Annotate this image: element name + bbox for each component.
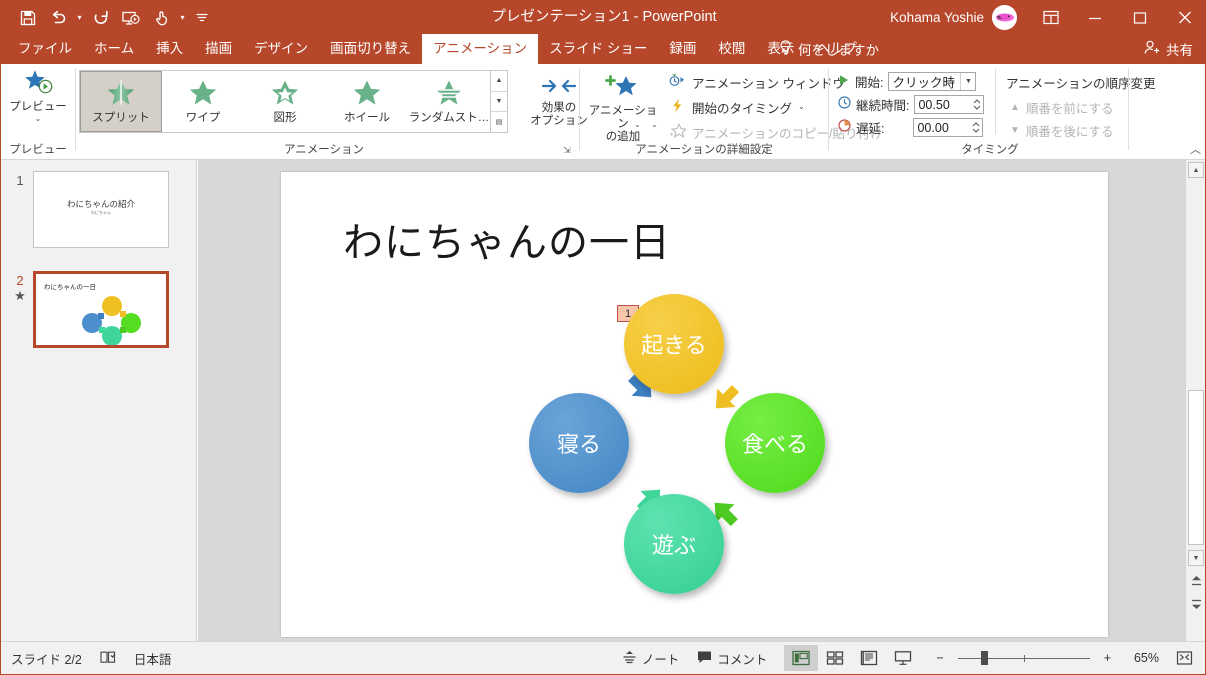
undo-button[interactable] [43,4,73,32]
delay-label: 遅延: [856,118,884,137]
animation-dialog-launcher[interactable]: ⇲ [561,144,573,156]
avatar[interactable] [992,5,1017,30]
accessibility-check-icon[interactable] [100,650,116,667]
start-play-icon [838,73,850,91]
account-name: Kohama Yoshie [890,10,984,25]
thumbnail-1-subtitle: わにちゃん [34,210,168,216]
maximize-button[interactable] [1117,1,1162,34]
duration-spinner[interactable] [970,95,983,114]
status-bar: スライド 2/2 日本語 ノート コメント [1,641,1206,674]
group-separator-3 [828,68,829,150]
preview-star-icon [23,69,54,101]
cycle-node-play-label: 遊ぶ [652,528,696,560]
share-person-icon [1144,40,1161,58]
move-later-label: 順番を後にする [1026,121,1114,140]
delay-spinbox[interactable]: 00.00 [913,118,983,137]
animation-gallery: スプリット ワイプ 図形 ホイール ランダムスト… [79,70,491,133]
animation-wheel-label: ホイール [344,109,390,125]
language-indicator[interactable]: 日本語 [134,649,172,668]
ribbon: プレビュー ⌄ プレビュー スプリット ワイプ 図形 [1,64,1206,160]
trigger-lightning-icon [669,98,686,116]
zoom-out-label: − [936,651,943,665]
tell-me-box[interactable]: 何をしますか [779,34,879,64]
slideshow-view-button[interactable] [886,645,920,671]
normal-view-button[interactable] [784,645,818,671]
tab-insert[interactable]: 挿入 [145,34,194,64]
effect-options-label-1: 効果の [542,102,577,115]
start-label: 開始: [855,72,883,91]
cycle-node-eat[interactable]: 食べる [725,393,825,493]
tab-home[interactable]: ホーム [83,34,145,64]
zoom-slider-thumb[interactable] [981,651,988,665]
zoom-percentage[interactable]: 65% [1117,651,1159,665]
slide-sorter-view-button[interactable] [818,645,852,671]
status-left: スライド 2/2 日本語 [11,642,171,674]
duration-clock-icon [838,96,851,114]
ribbon-tab-strip: ファイル ホーム 挿入 描画 デザイン 画面切り替え アニメーション スライド … [1,34,1206,64]
move-later-button: ▼ 順番を後にする [1010,119,1114,141]
effect-options-icon [542,75,576,102]
delay-value: 00.00 [917,121,948,135]
slide-editor-area[interactable]: わにちゃんの一日 1 [198,160,1187,641]
close-button[interactable] [1162,1,1206,34]
slide-canvas[interactable]: わにちゃんの一日 1 [281,172,1108,637]
tab-design[interactable]: デザイン [243,34,319,64]
zoom-slider[interactable] [950,645,1098,671]
ribbon-display-options-button[interactable] [1030,1,1072,34]
delay-clock-icon [838,119,851,137]
thumbnail-2-animation-star-icon: ★ [7,288,33,304]
notes-button[interactable]: ノート [613,645,689,671]
slide-thumbnail-pane[interactable]: 1 わにちゃんの紹介 わにちゃん 2 ★ わにちゃんの一日 [1,160,197,641]
ribbon-group-preview: プレビュー ⌄ プレビュー [1,64,75,159]
animation-random-bars-label: ランダムスト… [409,109,490,125]
reorder-animation-title: アニメーションの順序変更 [1006,73,1156,92]
animation-wipe[interactable]: ワイプ [162,71,244,132]
zoom-in-label: + [1104,651,1111,665]
ribbon-group-animation: スプリット ワイプ 図形 ホイール ランダムスト… [77,64,577,159]
window-controls [1030,1,1206,34]
comments-label: コメント [717,649,767,668]
move-earlier-icon: ▲ [1010,102,1020,113]
preview-button[interactable]: プレビュー ⌄ [6,64,70,123]
cycle-node-wake[interactable]: 起きる [624,294,724,394]
scroll-up-button[interactable]: ▲ [1188,162,1204,178]
animation-shape[interactable]: 図形 [244,71,326,132]
slide-title-text[interactable]: わにちゃんの一日 [343,210,671,268]
start-combobox-caret[interactable]: ▼ [960,73,975,90]
tab-transitions[interactable]: 画面切り替え [319,34,422,64]
cycle-node-wake-label: 起きる [641,328,707,360]
notes-label: ノート [642,649,680,668]
notes-icon [622,650,637,667]
next-slide-button[interactable] [1188,596,1204,612]
cycle-node-sleep-label: 寝る [557,427,601,459]
animation-random-bars[interactable]: ランダムスト… [408,71,490,132]
thumbnail-number-2: 2 [7,271,33,288]
animation-painter-icon [669,123,686,141]
trigger-dropdown-caret[interactable]: ⌄ [798,103,805,111]
start-value: クリック時 [892,72,955,91]
ribbon-group-timing: 開始: クリック時 ▼ 継続時間: 00.50 [830,64,1190,159]
animation-pane-icon [669,73,686,91]
thumbnail-preview-1[interactable]: わにちゃんの紹介 わにちゃん [33,171,169,248]
tab-recording[interactable]: 録画 [658,34,707,64]
group-title-preview: プレビュー [1,141,75,157]
vertical-scrollbar[interactable]: ▲ ▼ [1185,160,1205,641]
group-title-timing: タイミング [830,141,1150,157]
cycle-node-sleep[interactable]: 寝る [529,393,629,493]
tab-draw[interactable]: 描画 [194,34,243,64]
thumbnail-preview-2[interactable]: わにちゃんの一日 [33,271,169,348]
zoom-slider-tick [1024,655,1025,662]
start-combobox[interactable]: クリック時 ▼ [888,72,976,91]
group-title-advanced-animation: アニメーションの詳細設定 [581,141,827,157]
tell-me-label: 何をしますか [798,39,879,59]
thumbnail-1-title: わにちゃんの紹介 [34,198,168,210]
share-label: 共有 [1166,39,1193,59]
tab-review[interactable]: 校閲 [707,34,756,64]
preview-dropdown-caret[interactable]: ⌄ [35,115,42,123]
thumbnail-item-1[interactable]: 1 わにちゃんの紹介 わにちゃん [7,171,169,248]
slide-counter[interactable]: スライド 2/2 [11,649,82,668]
title-bar: ▾ ▾ プレゼンテーション1 - PowerPoint Kohama Yoshi… [1,1,1206,34]
animation-split[interactable]: スプリット [80,71,162,132]
animation-split-label: スプリット [92,109,150,125]
thumbnail-item-2[interactable]: 2 ★ わにちゃんの一日 [7,271,169,348]
thumbnail-2-cycle-diagram [74,296,160,346]
ribbon-group-advanced-animation: アニメーション の追加 ⌄ アニメーション ウィンドウ 開始のタイミング ⌄ [581,64,827,159]
lightbulb-icon [779,40,792,59]
start-slideshow-button[interactable] [116,4,146,32]
group-separator-4 [1128,68,1129,150]
animation-wipe-label: ワイプ [186,109,221,125]
share-button[interactable]: 共有 [1144,34,1193,64]
undo-dropdown-caret[interactable]: ▾ [73,4,86,32]
trigger-label: 開始のタイミング [692,98,792,117]
reading-view-button[interactable] [852,645,886,671]
move-earlier-button: ▲ 順番を前にする [1010,96,1114,118]
add-animation-icon [605,74,641,105]
previous-slide-button[interactable] [1188,572,1204,588]
group-separator-1 [75,68,76,150]
tab-file[interactable]: ファイル [7,34,83,64]
quick-access-toolbar: ▾ ▾ [13,1,215,34]
tab-slideshow[interactable]: スライド ショー [538,34,658,64]
animation-shape-label: 図形 [274,109,297,125]
group-separator-2 [579,68,580,150]
move-earlier-label: 順番を前にする [1026,98,1114,117]
comment-icon [697,650,712,667]
zoom-in-button[interactable]: + [1098,645,1117,671]
add-animation-button[interactable]: アニメーション の追加 [584,69,662,144]
thumbnail-number-1: 1 [7,171,33,188]
gallery-scroll-buttons: ▲ ▼ ▤ [491,70,508,133]
powerpoint-window: ▾ ▾ プレゼンテーション1 - PowerPoint Kohama Yoshi… [0,0,1206,675]
account-area[interactable]: Kohama Yoshie [890,1,1017,34]
scrollbar-thumb[interactable] [1188,390,1204,545]
gallery-scroll-up-button[interactable]: ▲ [491,71,507,92]
animation-wheel[interactable]: ホイール [326,71,408,132]
status-right: ノート コメント − [613,642,1201,674]
touch-mode-button[interactable] [146,4,176,32]
gallery-scroll-down-button[interactable]: ▼ [491,92,507,113]
fit-slide-to-window-button[interactable] [1167,645,1201,671]
smartart-cycle-diagram[interactable]: 起きる 食べる 遊ぶ 寝る [529,294,859,606]
minimize-button[interactable] [1072,1,1117,34]
ribbon-tabs: ファイル ホーム 挿入 描画 デザイン 画面切り替え アニメーション スライド … [7,34,868,64]
scroll-down-button[interactable]: ▼ [1188,550,1204,566]
tab-animations[interactable]: アニメーション [422,34,538,64]
group-title-animation: アニメーション [77,141,571,157]
preview-button-label: プレビュー [9,101,67,114]
timing-inner-separator [995,68,996,134]
customize-qat-button[interactable] [189,4,215,32]
collapse-ribbon-button[interactable]: ︿ [1190,141,1201,157]
redo-button[interactable] [86,4,116,32]
duration-spinbox[interactable]: 00.50 [914,95,984,114]
thumbnail-2-title: わにちゃんの一日 [44,281,96,291]
save-button[interactable] [13,4,43,32]
delay-spinner[interactable] [969,118,982,137]
touch-mode-dropdown-caret[interactable]: ▾ [176,4,189,32]
comments-button[interactable]: コメント [688,645,776,671]
duration-label: 継続時間: [856,95,909,114]
duration-value: 00.50 [918,98,949,112]
cycle-node-eat-label: 食べる [742,427,808,459]
gallery-more-button[interactable]: ▤ [491,112,507,132]
zoom-out-button[interactable]: − [930,645,949,671]
add-animation-dropdown-caret[interactable]: ⌄ [651,121,658,129]
move-later-icon: ▼ [1010,125,1020,136]
cycle-node-play[interactable]: 遊ぶ [624,494,724,594]
animation-pane-label: アニメーション ウィンドウ [692,73,845,92]
